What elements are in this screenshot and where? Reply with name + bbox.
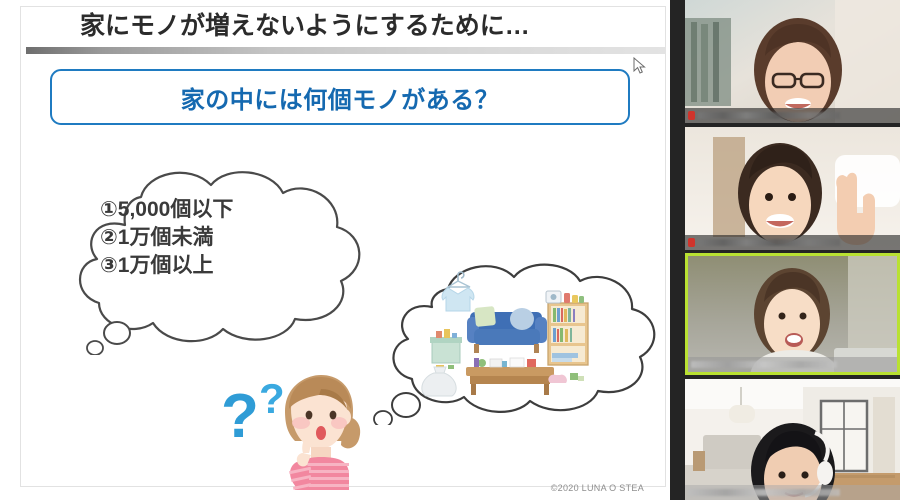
list-item: ③1万個以上 <box>100 253 350 279</box>
screen-share-meeting-view: 家にモノが増えないようにするために… 家の中には何個モノがある？ ①5,000個… <box>0 0 900 500</box>
bookshelf-icon <box>546 291 588 365</box>
answer-cloud: ①5,000個以下 ②1万個未満 ③1万個以上 <box>55 155 385 355</box>
participant-tile-1[interactable] <box>685 0 900 123</box>
question-mark-icon: ? ? <box>221 375 285 451</box>
participant-name-hidden <box>698 239 840 246</box>
video-feed <box>685 379 900 500</box>
microphone-muted-icon <box>688 111 695 120</box>
title-divider <box>26 47 666 54</box>
thought-cloud-icon <box>370 255 660 425</box>
participants-video-panel <box>670 0 900 500</box>
list-item: ①5,000個以下 <box>100 197 350 223</box>
participant-tile-4[interactable] <box>685 379 900 500</box>
participant-tile-3[interactable] <box>685 253 900 375</box>
participant-tile-2[interactable] <box>685 127 900 250</box>
list-item: ②1万個未満 <box>100 225 350 251</box>
video-feed <box>688 256 897 372</box>
microphone-muted-icon <box>688 238 695 247</box>
participant-name-bar <box>685 485 900 500</box>
mouse-cursor-icon <box>633 57 647 75</box>
participant-name-hidden <box>698 112 840 119</box>
page-title: 家にモノが増えないようにするために… <box>80 8 640 44</box>
participant-name-hidden <box>691 361 837 368</box>
question-box: 家の中には何個モノがある？ <box>50 69 630 125</box>
answer-list: ①5,000個以下 ②1万個未満 ③1万個以上 <box>100 197 350 279</box>
copyright-text: ©2020 LUNA O STEA <box>551 483 644 493</box>
girl-thinking-icon: ? ? <box>215 365 375 490</box>
participant-name-hidden <box>688 489 840 496</box>
shared-slide-region[interactable]: 家にモノが増えないようにするために… 家の中には何個モノがある？ ①5,000個… <box>0 0 670 500</box>
question-text: 家の中には何個モノがある？ <box>181 80 500 115</box>
room-thought-cloud <box>370 255 660 420</box>
participant-name-bar <box>688 357 897 372</box>
svg-text:?: ? <box>221 382 259 451</box>
video-feed <box>685 127 900 250</box>
svg-text:?: ? <box>259 375 285 422</box>
video-feed <box>685 0 900 123</box>
participant-name-bar <box>685 235 900 250</box>
participant-name-bar <box>685 108 900 123</box>
thinking-character: ? ? <box>215 365 375 490</box>
